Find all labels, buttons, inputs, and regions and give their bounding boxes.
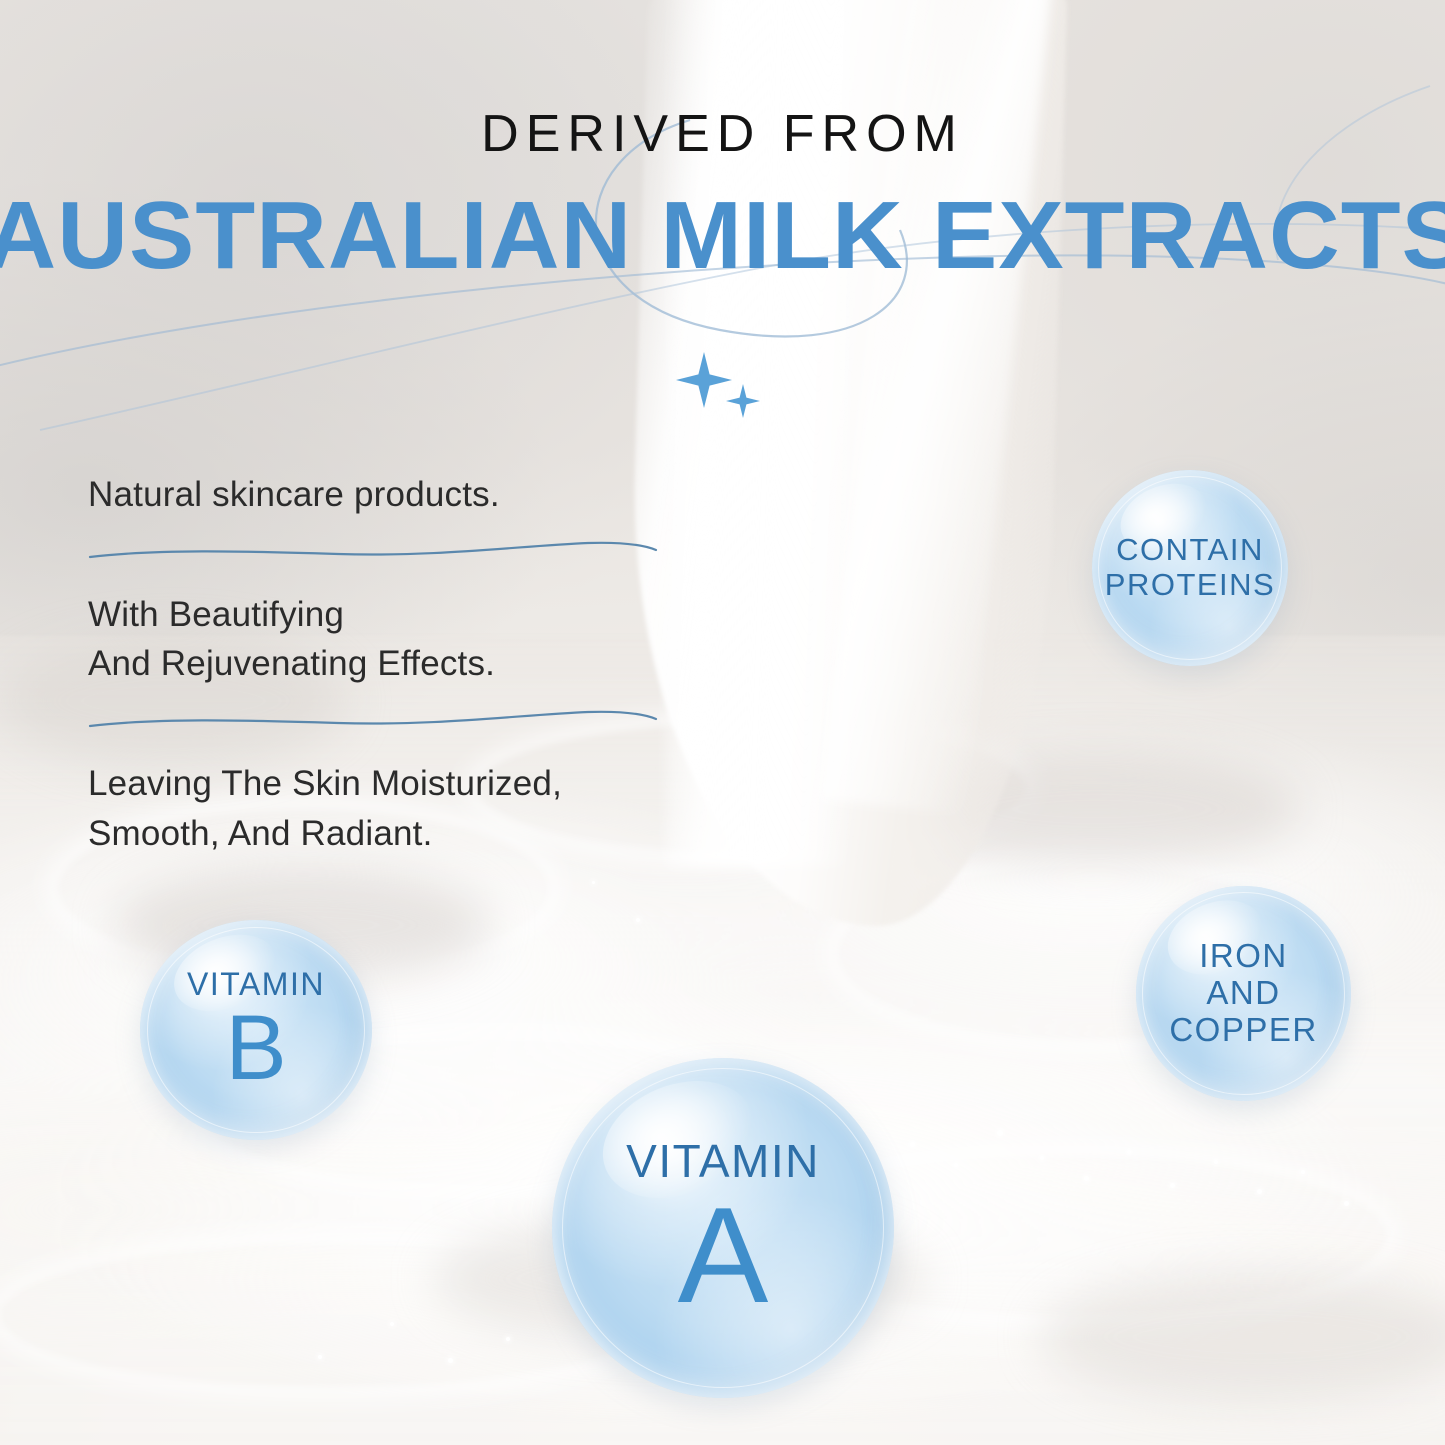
sparkle-group bbox=[676, 352, 786, 432]
bubble-vitamin-a: VITAMIN A bbox=[552, 1058, 894, 1398]
bubble-vitamin-b: VITAMIN B bbox=[140, 920, 372, 1140]
bubble-big-letter: A bbox=[678, 1191, 769, 1320]
poster-header: DERIVED FROM AUSTRALIAN MILK EXTRACTS bbox=[0, 108, 1445, 284]
eyebrow-text: DERIVED FROM bbox=[0, 108, 1445, 160]
sparkle-star-small-icon bbox=[726, 384, 760, 418]
copy-line: Smooth, And Radiant. bbox=[88, 809, 688, 859]
milk-extract-promo-poster: DERIVED FROM AUSTRALIAN MILK EXTRACTS Na… bbox=[0, 0, 1445, 1445]
bubble-label-line: CONTAIN bbox=[1116, 533, 1264, 568]
bubble-label-line: COPPER bbox=[1169, 1012, 1317, 1049]
bubble-contain-proteins: CONTAIN PROTEINS bbox=[1092, 470, 1288, 666]
copy-line: And Rejuvenating Effects. bbox=[88, 639, 688, 689]
bubble-iron-and-copper: IRON AND COPPER bbox=[1136, 886, 1351, 1101]
wave-divider bbox=[88, 538, 658, 564]
wave-divider bbox=[88, 707, 658, 733]
copy-block-1: Natural skincare products. bbox=[88, 470, 688, 520]
benefits-copy-block: Natural skincare products. With Beautify… bbox=[88, 470, 688, 858]
bubble-big-letter: B bbox=[225, 1005, 286, 1092]
bubble-label-line: IRON bbox=[1199, 938, 1288, 975]
copy-block-3: Leaving The Skin Moisturized, Smooth, An… bbox=[88, 759, 688, 858]
copy-line: Leaving The Skin Moisturized, bbox=[88, 759, 688, 809]
bubble-label-line: AND bbox=[1206, 975, 1280, 1012]
copy-block-2: With Beautifying And Rejuvenating Effect… bbox=[88, 590, 688, 689]
copy-line: With Beautifying bbox=[88, 590, 688, 640]
sparkle-star-large-icon bbox=[676, 352, 732, 408]
copy-line: Natural skincare products. bbox=[88, 470, 688, 520]
page-title: AUSTRALIAN MILK EXTRACTS bbox=[0, 188, 1445, 284]
milk-wave-shadow bbox=[1040, 1272, 1445, 1402]
bubble-label-line: PROTEINS bbox=[1105, 568, 1275, 603]
